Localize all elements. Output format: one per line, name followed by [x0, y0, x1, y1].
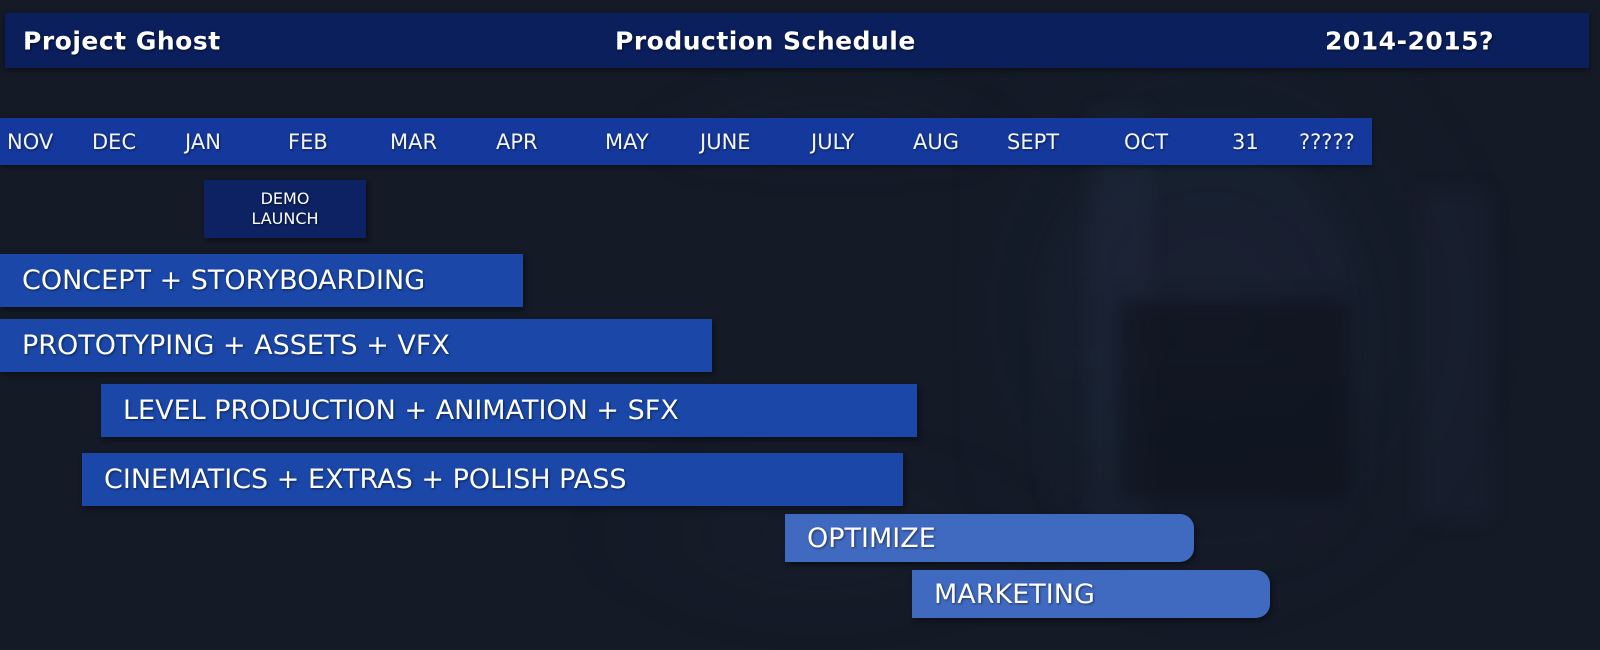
- gantt-bar-4[interactable]: OPTIMIZE: [785, 514, 1194, 562]
- gantt-bar-0[interactable]: CONCEPT + STORYBOARDING: [0, 254, 523, 307]
- timeline-month-aug[interactable]: AUG: [913, 130, 959, 154]
- timeline-month-june[interactable]: JUNE: [700, 130, 751, 154]
- ghost-streak-left: [1090, 110, 1150, 540]
- schedule-page: Project Ghost Production Schedule 2014-2…: [0, 0, 1600, 650]
- timeline-month-nov[interactable]: NOV: [7, 130, 53, 154]
- gantt-bar-label: CINEMATICS + EXTRAS + POLISH PASS: [82, 464, 626, 495]
- document-title: Production Schedule: [615, 26, 916, 55]
- milestone-demo-launch[interactable]: DEMO LAUNCH: [204, 180, 366, 238]
- gantt-bar-1[interactable]: PROTOTYPING + ASSETS + VFX: [0, 319, 712, 372]
- timeline-month-mar[interactable]: MAR: [390, 130, 437, 154]
- timeline-month-qqqqq[interactable]: ?????: [1299, 130, 1355, 154]
- timeline-month-feb[interactable]: FEB: [288, 130, 328, 154]
- timeline-month-sept[interactable]: SEPT: [1007, 130, 1059, 154]
- gantt-bar-label: PROTOTYPING + ASSETS + VFX: [0, 330, 450, 361]
- timeline-axis: NOVDECJANFEBMARAPRMAYJUNEJULYAUGSEPTOCT3…: [0, 118, 1372, 165]
- gantt-bar-label: MARKETING: [912, 579, 1095, 610]
- timeline-month-jan[interactable]: JAN: [185, 130, 221, 154]
- ghost-figure-shape: [1040, 150, 1370, 570]
- milestone-line-2: LAUNCH: [251, 209, 318, 229]
- gantt-bar-5[interactable]: MARKETING: [912, 570, 1270, 618]
- timeline-month-oct[interactable]: OCT: [1124, 130, 1168, 154]
- gantt-bar-label: LEVEL PRODUCTION + ANIMATION + SFX: [101, 395, 679, 426]
- timeline-month-dec[interactable]: DEC: [92, 130, 136, 154]
- timeline-month-31[interactable]: 31: [1232, 130, 1259, 154]
- page-title: Project Ghost: [23, 26, 221, 55]
- timeline-month-apr[interactable]: APR: [496, 130, 538, 154]
- timeline-month-may[interactable]: MAY: [605, 130, 649, 154]
- gantt-bar-label: OPTIMIZE: [785, 523, 936, 554]
- ghost-dark-block: [1120, 300, 1350, 500]
- gantt-bar-3[interactable]: CINEMATICS + EXTRAS + POLISH PASS: [82, 453, 903, 506]
- gantt-bar-2[interactable]: LEVEL PRODUCTION + ANIMATION + SFX: [101, 384, 917, 437]
- timeline-month-july[interactable]: JULY: [811, 130, 854, 154]
- date-range-label: 2014-2015?: [1325, 26, 1494, 55]
- gantt-bar-label: CONCEPT + STORYBOARDING: [0, 265, 425, 296]
- ghost-streak-right: [1420, 190, 1490, 520]
- milestone-line-1: DEMO: [261, 189, 310, 209]
- title-bar: Project Ghost Production Schedule 2014-2…: [5, 13, 1589, 68]
